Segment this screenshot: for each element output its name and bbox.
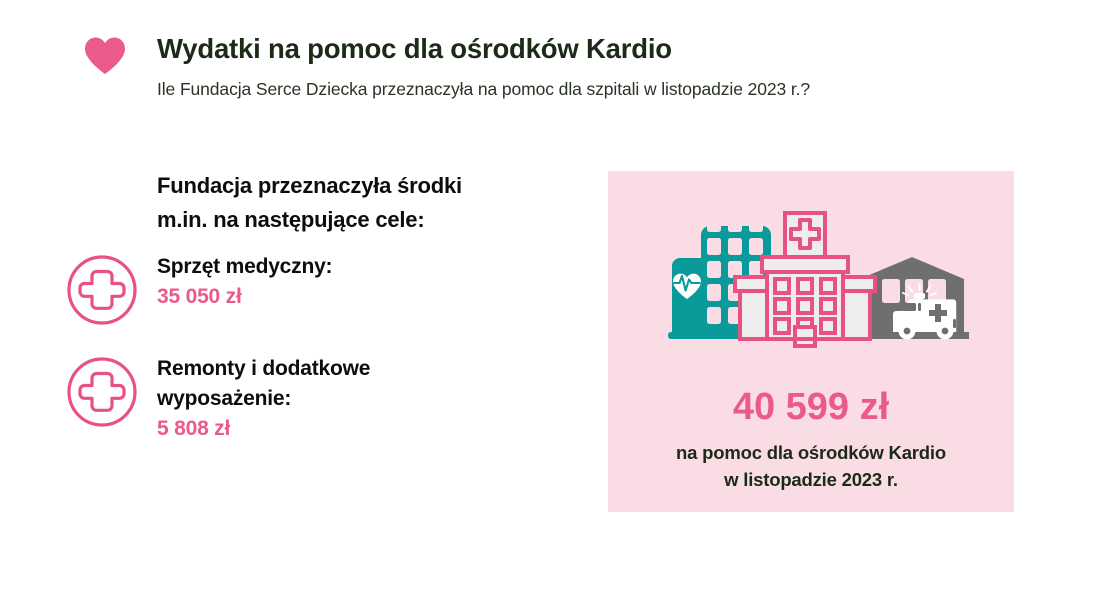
infographic-page: Wydatki na pomoc dla ośrodków Kardio Ile… — [0, 0, 1097, 600]
medical-cross-circle-icon — [66, 254, 138, 326]
list-item-value: 5 808 zł — [157, 414, 577, 444]
panel-caption: na pomoc dla ośrodków Kardio w listopadz… — [608, 439, 1014, 493]
left-column: Fundacja przeznaczyła środki m.in. na na… — [0, 0, 600, 600]
lead-text: Fundacja przeznaczyła środki m.in. na na… — [157, 169, 462, 237]
medical-cross-circle-icon — [66, 356, 138, 428]
hospital-buildings-illustration — [635, 199, 985, 359]
lead-line-1: Fundacja przeznaczyła środki — [157, 169, 462, 203]
total-amount: 40 599 zł — [608, 386, 1014, 429]
hospital-door — [795, 327, 815, 346]
summary-panel: 40 599 zł na pomoc dla ośrodków Kardio w… — [608, 171, 1014, 512]
gray-garage — [857, 257, 969, 340]
list-item-label: Remonty i dodatkowe — [157, 354, 577, 384]
list-item-label: Sprzęt medyczny: — [157, 252, 577, 282]
list-item-value: 35 050 zł — [157, 282, 577, 312]
caption-line-2: w listopadzie 2023 r. — [608, 466, 1014, 493]
caption-line-1: na pomoc dla ośrodków Kardio — [608, 439, 1014, 466]
list-item-text: Remonty i dodatkowe wyposażenie: 5 808 z… — [157, 354, 577, 444]
list-item-text: Sprzęt medyczny: 35 050 zł — [157, 252, 577, 312]
lead-line-2: m.in. na następujące cele: — [157, 203, 462, 237]
list-item-label-2: wyposażenie: — [157, 384, 577, 414]
